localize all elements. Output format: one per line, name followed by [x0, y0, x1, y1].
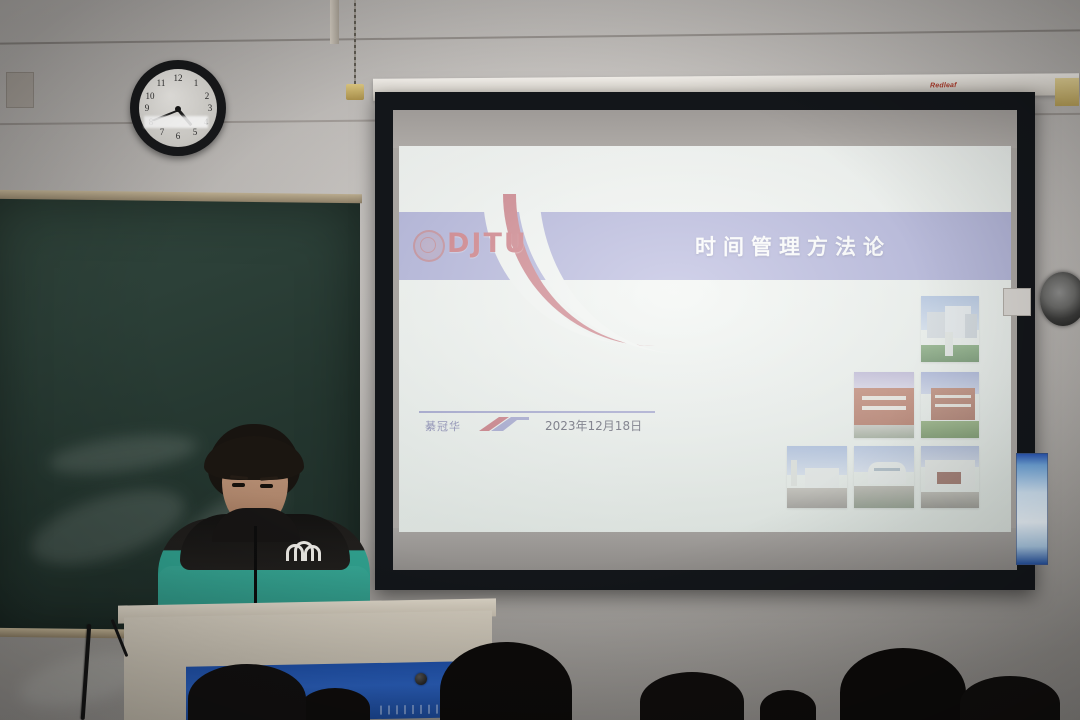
slide-date: 2023年12月18日: [545, 417, 642, 434]
slide-photo-4: [787, 446, 847, 508]
wall-outlet-plate: [1003, 288, 1031, 316]
university-seal-icon: [413, 230, 445, 262]
clock-center-pin: [175, 106, 181, 112]
footer-swoosh-icon: [477, 414, 531, 432]
audience-head: [300, 688, 370, 720]
wall-clock: 12 1 2 3 4 5 6 7 8 9 10 11: [130, 60, 226, 156]
clock-numeral: 10: [144, 90, 156, 102]
presentation-slide: DJTU 时间管理方法论 綦冠华 2023年12月18日: [399, 146, 1011, 532]
slide-photo-1: [921, 296, 979, 362]
classroom-scene: 12 1 2 3 4 5 6 7 8 9 10 11 Redleaf: [0, 0, 1080, 720]
ceiling-bracket: [330, 0, 339, 44]
slide-photo-5: [854, 446, 914, 508]
screen-brand-label: Redleaf: [930, 82, 957, 89]
slide-photo-2: [854, 372, 914, 438]
clock-numeral: 11: [155, 77, 167, 89]
chain-hook: [346, 84, 364, 100]
clock-glare: [144, 116, 208, 128]
djtu-wordmark: DJTU: [447, 228, 528, 259]
seal-inner-ring: [420, 237, 436, 253]
slide-photo-3: [921, 372, 979, 438]
wall-speaker: [1040, 272, 1080, 326]
the-north-face-logo-icon: [284, 540, 318, 560]
clock-numeral: 9: [141, 102, 153, 114]
lectern-knob-right[interactable]: [415, 673, 427, 685]
footer-rule: [419, 411, 655, 413]
screen-surface: DJTU 时间管理方法论 綦冠华 2023年12月18日: [393, 110, 1017, 570]
screen-housing-end-cap: [1055, 78, 1079, 106]
clock-numeral: 2: [201, 90, 213, 102]
clock-numeral: 3: [204, 102, 216, 114]
clock-numeral: 12: [172, 72, 184, 84]
audience-head: [760, 690, 816, 720]
screen-unlit-bottom: [393, 528, 1017, 570]
clock-numeral: 6: [172, 130, 184, 142]
presenter-eye-right: [260, 484, 273, 488]
clock-numeral: 1: [190, 77, 202, 89]
presenter-eye-left: [232, 483, 245, 487]
slide-title: 时间管理方法论: [695, 230, 995, 264]
screen-unlit-top: [393, 110, 1017, 148]
blue-wall-poster: [1016, 453, 1048, 565]
slide-white-swoosh-outer: [517, 186, 839, 354]
projector-screen[interactable]: DJTU 时间管理方法论 綦冠华 2023年12月18日: [375, 92, 1035, 590]
hanging-chain: [354, 0, 356, 86]
presenter-name: 綦冠华: [425, 418, 461, 434]
slide-photo-6: [921, 446, 979, 508]
